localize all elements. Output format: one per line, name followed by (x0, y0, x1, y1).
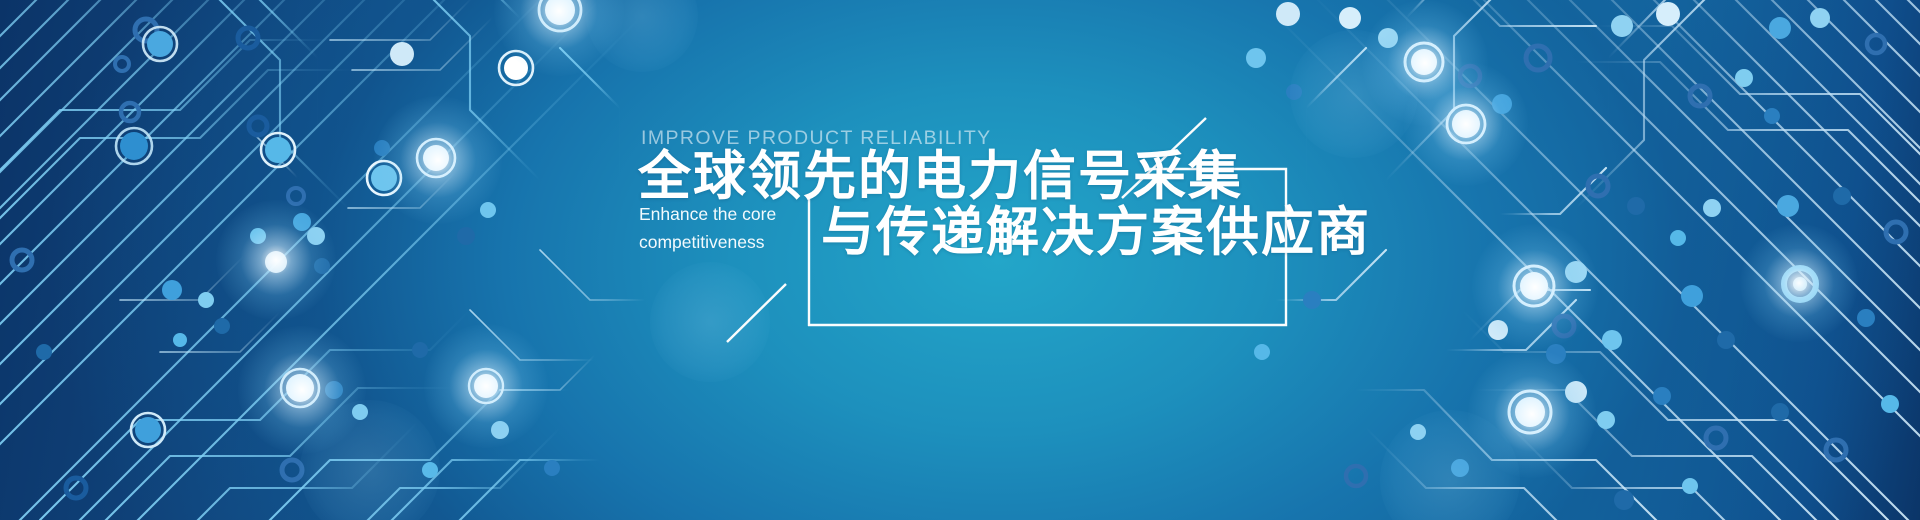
banner-headline-line-2: 与传递解决方案供应商 (821, 204, 1371, 262)
hero-banner: IMPROVE PRODUCT RELIABILITY 全球领先的电力信号采集 … (0, 0, 1920, 520)
banner-subtitle: Enhance the core competitiveness (639, 200, 814, 256)
banner-headline-line-1: 全球领先的电力信号采集 (638, 148, 1243, 206)
banner-content: IMPROVE PRODUCT RELIABILITY 全球领先的电力信号采集 … (0, 0, 1920, 520)
